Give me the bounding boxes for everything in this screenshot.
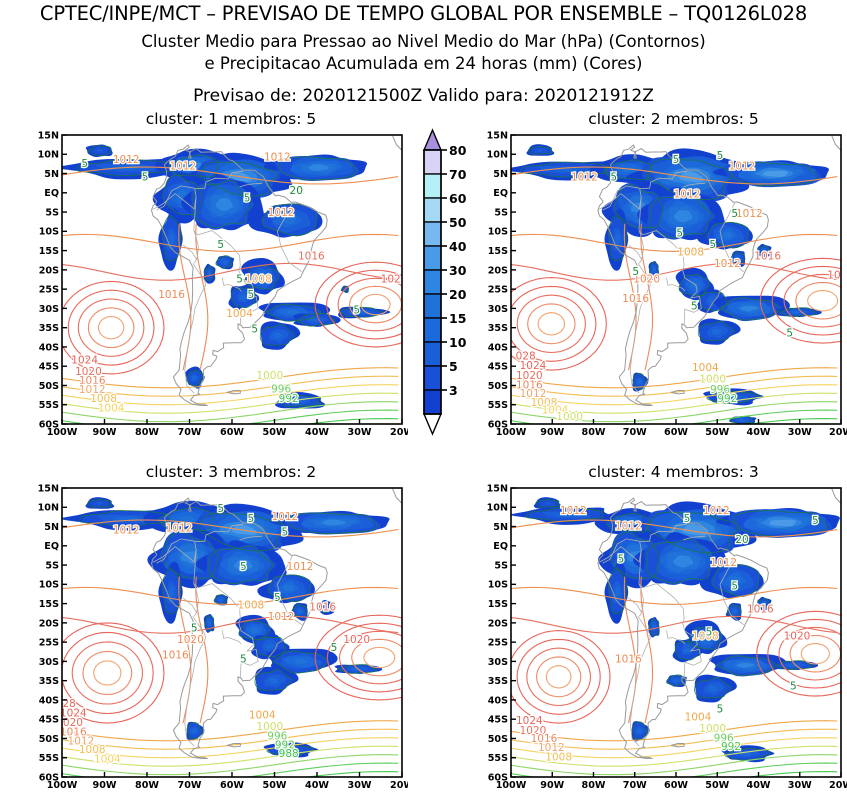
x-tick-label: 80W bbox=[582, 427, 606, 438]
svg-text:1020: 1020 bbox=[177, 634, 204, 646]
y-tick-label: 30S bbox=[39, 657, 59, 668]
subtitle-line-1: Cluster Medio para Pressao ao Nivel Medi… bbox=[0, 32, 847, 51]
colorbar-tick-label: 10 bbox=[449, 335, 467, 350]
y-tick-label: 10N bbox=[38, 150, 59, 161]
colorbar-band bbox=[424, 222, 441, 246]
colorbar-band bbox=[424, 150, 441, 174]
svg-text:5: 5 bbox=[684, 513, 691, 525]
svg-text:1016: 1016 bbox=[298, 250, 325, 262]
svg-text:988: 988 bbox=[279, 748, 299, 760]
map-panel-cluster-1[interactable]: 1012101210121012101610161021024102010161… bbox=[28, 128, 408, 446]
y-tick-label: 55S bbox=[488, 753, 508, 764]
y-tick-label: 15S bbox=[39, 599, 59, 610]
y-tick-label: 10S bbox=[39, 227, 59, 238]
x-tick-label: 20W bbox=[390, 427, 408, 438]
svg-text:5: 5 bbox=[274, 592, 281, 604]
panel-title-cluster-4: cluster: 4 membros: 3 bbox=[510, 463, 837, 481]
svg-text:5: 5 bbox=[706, 627, 713, 639]
svg-text:5: 5 bbox=[81, 158, 88, 170]
svg-text:1012: 1012 bbox=[710, 557, 737, 569]
x-tick-label: 100W bbox=[47, 427, 78, 438]
y-tick-label: 35S bbox=[39, 676, 59, 687]
svg-text:1012: 1012 bbox=[571, 171, 598, 183]
svg-text:5: 5 bbox=[353, 304, 360, 316]
x-tick-label: 70W bbox=[178, 780, 202, 791]
svg-text:1012: 1012 bbox=[264, 151, 291, 163]
colorbar-tick-label: 60 bbox=[449, 191, 467, 206]
x-tick-label: 60W bbox=[664, 427, 688, 438]
svg-text:1016: 1016 bbox=[162, 650, 189, 662]
x-tick-label: 30W bbox=[788, 427, 812, 438]
y-tick-label: 5S bbox=[45, 560, 59, 571]
y-tick-label: 10S bbox=[39, 580, 59, 591]
svg-text:5: 5 bbox=[248, 289, 255, 301]
x-tick-label: 60W bbox=[220, 427, 244, 438]
svg-text:1016: 1016 bbox=[309, 601, 336, 613]
x-tick-label: 40W bbox=[747, 780, 771, 791]
svg-text:1016: 1016 bbox=[158, 289, 185, 301]
svg-text:5: 5 bbox=[731, 580, 738, 592]
svg-text:1008: 1008 bbox=[545, 752, 572, 764]
svg-text:5: 5 bbox=[217, 239, 224, 251]
svg-text:1012: 1012 bbox=[113, 154, 140, 166]
y-tick-label: 15N bbox=[487, 130, 508, 141]
svg-text:1004: 1004 bbox=[692, 362, 719, 374]
colorbar-tick-label: 5 bbox=[449, 359, 458, 374]
x-tick-label: 30W bbox=[788, 780, 812, 791]
x-tick-label: 40W bbox=[305, 780, 329, 791]
svg-text:992: 992 bbox=[279, 393, 299, 405]
x-tick-label: 90W bbox=[540, 427, 564, 438]
svg-text:1012: 1012 bbox=[714, 258, 741, 270]
svg-text:5: 5 bbox=[610, 171, 617, 183]
y-tick-label: 40S bbox=[488, 342, 508, 353]
svg-text:1012: 1012 bbox=[736, 208, 763, 220]
y-tick-label: 50S bbox=[39, 734, 59, 745]
x-tick-label: 30W bbox=[348, 427, 372, 438]
svg-text:1012: 1012 bbox=[272, 511, 299, 523]
y-tick-label: 15N bbox=[38, 130, 59, 141]
y-tick-label: 10N bbox=[487, 150, 508, 161]
svg-text:1020: 1020 bbox=[784, 630, 811, 642]
subtitle-line-2: e Precipitacao Acumulada em 24 horas (mm… bbox=[0, 54, 847, 73]
x-tick-label: 100W bbox=[47, 780, 78, 791]
svg-text:1000: 1000 bbox=[556, 411, 583, 423]
colorbar-band bbox=[424, 270, 441, 294]
colorbar-tick-label: 15 bbox=[449, 311, 466, 326]
y-tick-label: 55S bbox=[39, 753, 59, 764]
y-tick-label: EQ bbox=[493, 541, 508, 552]
svg-text:5: 5 bbox=[786, 327, 793, 339]
svg-text:1012: 1012 bbox=[268, 611, 295, 623]
colorbar-band bbox=[424, 366, 441, 390]
y-tick-label: 55S bbox=[39, 400, 59, 411]
x-tick-label: 90W bbox=[93, 780, 117, 791]
svg-text:5: 5 bbox=[240, 561, 247, 573]
svg-text:102: 102 bbox=[827, 270, 847, 282]
svg-text:1004: 1004 bbox=[226, 308, 253, 320]
panel-title-cluster-2: cluster: 2 membros: 5 bbox=[510, 110, 837, 128]
svg-text:5: 5 bbox=[618, 553, 625, 565]
x-tick-label: 90W bbox=[540, 780, 564, 791]
x-tick-label: 20W bbox=[829, 780, 847, 791]
colorbar-tick-label: 70 bbox=[449, 167, 467, 182]
colorbar-band bbox=[424, 318, 441, 342]
svg-text:1016: 1016 bbox=[747, 603, 774, 615]
y-tick-label: 20S bbox=[39, 265, 59, 276]
colorbar-tick-label: 40 bbox=[449, 239, 467, 254]
y-tick-label: 25S bbox=[39, 285, 59, 296]
y-tick-label: 40S bbox=[488, 695, 508, 706]
svg-text:5: 5 bbox=[709, 239, 716, 251]
x-tick-label: 50W bbox=[705, 427, 729, 438]
y-tick-label: 35S bbox=[488, 323, 508, 334]
svg-text:1012: 1012 bbox=[287, 561, 314, 573]
svg-text:1020: 1020 bbox=[343, 634, 370, 646]
svg-text:5: 5 bbox=[812, 515, 819, 527]
colorbar-under-arrow bbox=[424, 414, 441, 434]
x-tick-label: 50W bbox=[705, 780, 729, 791]
y-tick-label: 35S bbox=[39, 323, 59, 334]
svg-text:1012: 1012 bbox=[615, 521, 642, 533]
y-tick-label: 45S bbox=[39, 362, 59, 373]
x-tick-label: 80W bbox=[582, 780, 606, 791]
svg-text:5: 5 bbox=[673, 154, 680, 166]
svg-text:20: 20 bbox=[735, 534, 748, 546]
y-tick-label: 50S bbox=[488, 381, 508, 392]
y-tick-label: 25S bbox=[39, 638, 59, 649]
y-tick-label: 30S bbox=[488, 304, 508, 315]
colorbar-tick-label: 50 bbox=[449, 215, 467, 230]
y-tick-label: 20S bbox=[488, 265, 508, 276]
y-tick-label: 15S bbox=[488, 246, 508, 257]
svg-text:102: 102 bbox=[381, 274, 401, 286]
svg-text:1012: 1012 bbox=[729, 161, 756, 173]
x-tick-label: 100W bbox=[496, 780, 527, 791]
svg-text:1012: 1012 bbox=[560, 505, 587, 517]
svg-text:5: 5 bbox=[217, 503, 224, 515]
svg-text:1016: 1016 bbox=[615, 653, 642, 665]
svg-text:1012: 1012 bbox=[170, 161, 197, 173]
svg-text:5: 5 bbox=[142, 171, 149, 183]
svg-text:1016: 1016 bbox=[754, 250, 781, 262]
svg-text:5: 5 bbox=[691, 300, 698, 312]
y-tick-label: 15S bbox=[39, 246, 59, 257]
svg-text:1008: 1008 bbox=[245, 274, 272, 286]
svg-text:5: 5 bbox=[790, 680, 797, 692]
panel-title-cluster-1: cluster: 1 membros: 5 bbox=[62, 110, 400, 128]
colorbar-tick-label: 3 bbox=[449, 383, 458, 398]
svg-text:5: 5 bbox=[248, 513, 255, 525]
forecast-validity-line: Previsao de: 2020121500Z Valido para: 20… bbox=[0, 86, 847, 106]
y-tick-label: 15N bbox=[38, 483, 59, 494]
svg-text:20: 20 bbox=[290, 185, 303, 197]
svg-text:1008: 1008 bbox=[677, 247, 704, 259]
y-tick-label: 50S bbox=[488, 734, 508, 745]
y-tick-label: 25S bbox=[488, 285, 508, 296]
y-tick-label: 50S bbox=[39, 381, 59, 392]
y-tick-label: 15N bbox=[487, 483, 508, 494]
svg-text:1008: 1008 bbox=[238, 600, 265, 612]
y-tick-label: EQ bbox=[44, 188, 59, 199]
map-panel-cluster-2[interactable]: 1012101210121012101210161016102010202810… bbox=[477, 128, 847, 446]
svg-text:1012: 1012 bbox=[268, 207, 295, 219]
y-tick-label: 55S bbox=[488, 400, 508, 411]
svg-text:5: 5 bbox=[240, 653, 247, 665]
x-tick-label: 20W bbox=[829, 427, 847, 438]
svg-text:5: 5 bbox=[282, 526, 289, 538]
svg-text:1012: 1012 bbox=[113, 524, 140, 536]
x-tick-label: 60W bbox=[220, 780, 244, 791]
y-tick-label: 45S bbox=[488, 715, 508, 726]
y-tick-label: 5N bbox=[44, 169, 59, 180]
svg-text:5: 5 bbox=[331, 642, 338, 654]
colorbar-tick-label: 30 bbox=[449, 263, 467, 278]
colorbar-band bbox=[424, 246, 441, 270]
svg-text:5: 5 bbox=[731, 208, 738, 220]
colorbar-tick-label: 20 bbox=[449, 287, 467, 302]
y-tick-label: 15S bbox=[488, 599, 508, 610]
colorbar-band bbox=[424, 174, 441, 198]
y-tick-label: 40S bbox=[39, 695, 59, 706]
y-tick-label: 5N bbox=[493, 169, 508, 180]
svg-text:5: 5 bbox=[244, 193, 251, 205]
y-tick-label: 35S bbox=[488, 676, 508, 687]
svg-text:5: 5 bbox=[717, 150, 724, 162]
svg-text:5: 5 bbox=[251, 324, 258, 336]
svg-text:1016: 1016 bbox=[622, 293, 649, 305]
svg-text:1012: 1012 bbox=[166, 522, 193, 534]
map-panel-cluster-4[interactable]: 1012101210121012101610201016100810241020… bbox=[477, 481, 847, 799]
x-tick-label: 40W bbox=[747, 427, 771, 438]
x-tick-label: 20W bbox=[390, 780, 408, 791]
svg-text:1024: 1024 bbox=[71, 354, 98, 366]
precipitation-colorbar: 80706050403020151053 bbox=[408, 128, 480, 444]
y-tick-label: 20S bbox=[39, 618, 59, 629]
svg-text:1012: 1012 bbox=[703, 505, 730, 517]
y-tick-label: 25S bbox=[488, 638, 508, 649]
page-title: CPTEC/INPE/MCT – PREVISAO DE TEMPO GLOBA… bbox=[0, 2, 847, 25]
y-tick-label: 45S bbox=[488, 362, 508, 373]
svg-text:992: 992 bbox=[717, 393, 737, 405]
svg-text:5: 5 bbox=[717, 704, 724, 716]
y-tick-label: 30S bbox=[488, 657, 508, 668]
x-tick-label: 90W bbox=[93, 427, 117, 438]
x-tick-label: 70W bbox=[623, 427, 647, 438]
x-tick-label: 30W bbox=[348, 780, 372, 791]
colorbar-band bbox=[424, 390, 441, 414]
colorbar-over-arrow bbox=[424, 130, 441, 150]
x-tick-label: 100W bbox=[496, 427, 527, 438]
x-tick-label: 40W bbox=[305, 427, 329, 438]
colorbar-band bbox=[424, 198, 441, 222]
svg-text:1004: 1004 bbox=[94, 754, 121, 766]
y-tick-label: 5N bbox=[493, 522, 508, 533]
panel-title-cluster-3: cluster: 3 membros: 2 bbox=[62, 463, 400, 481]
map-panel-cluster-3[interactable]: 1012101210121012101210161016102010200281… bbox=[28, 481, 408, 799]
svg-text:1004: 1004 bbox=[98, 403, 125, 415]
y-tick-label: 40S bbox=[39, 342, 59, 353]
y-tick-label: 30S bbox=[39, 304, 59, 315]
x-tick-label: 70W bbox=[178, 427, 202, 438]
svg-text:1000: 1000 bbox=[256, 370, 283, 382]
y-tick-label: 20S bbox=[488, 618, 508, 629]
y-tick-label: 10S bbox=[488, 227, 508, 238]
x-tick-label: 50W bbox=[263, 427, 287, 438]
y-tick-label: 45S bbox=[39, 715, 59, 726]
x-tick-label: 50W bbox=[263, 780, 287, 791]
svg-text:1004: 1004 bbox=[685, 711, 712, 723]
svg-text:5: 5 bbox=[236, 274, 243, 286]
svg-text:1004: 1004 bbox=[249, 709, 276, 721]
svg-text:992: 992 bbox=[721, 741, 741, 753]
colorbar-band bbox=[424, 342, 441, 366]
x-tick-label: 70W bbox=[623, 780, 647, 791]
y-tick-label: 5N bbox=[44, 522, 59, 533]
y-tick-label: EQ bbox=[44, 541, 59, 552]
x-tick-label: 80W bbox=[135, 427, 159, 438]
y-tick-label: EQ bbox=[493, 188, 508, 199]
y-tick-label: 10S bbox=[488, 580, 508, 591]
svg-text:5: 5 bbox=[632, 266, 639, 278]
svg-text:1012: 1012 bbox=[674, 189, 701, 201]
svg-text:5: 5 bbox=[676, 227, 683, 239]
colorbar-band bbox=[424, 294, 441, 318]
x-tick-label: 80W bbox=[135, 780, 159, 791]
y-tick-label: 5S bbox=[494, 207, 508, 218]
svg-text:5: 5 bbox=[191, 623, 198, 635]
y-tick-label: 10N bbox=[487, 503, 508, 514]
y-tick-label: 5S bbox=[494, 560, 508, 571]
x-tick-label: 60W bbox=[664, 780, 688, 791]
y-tick-label: 5S bbox=[45, 207, 59, 218]
y-tick-label: 10N bbox=[38, 503, 59, 514]
colorbar-tick-label: 80 bbox=[449, 143, 467, 158]
